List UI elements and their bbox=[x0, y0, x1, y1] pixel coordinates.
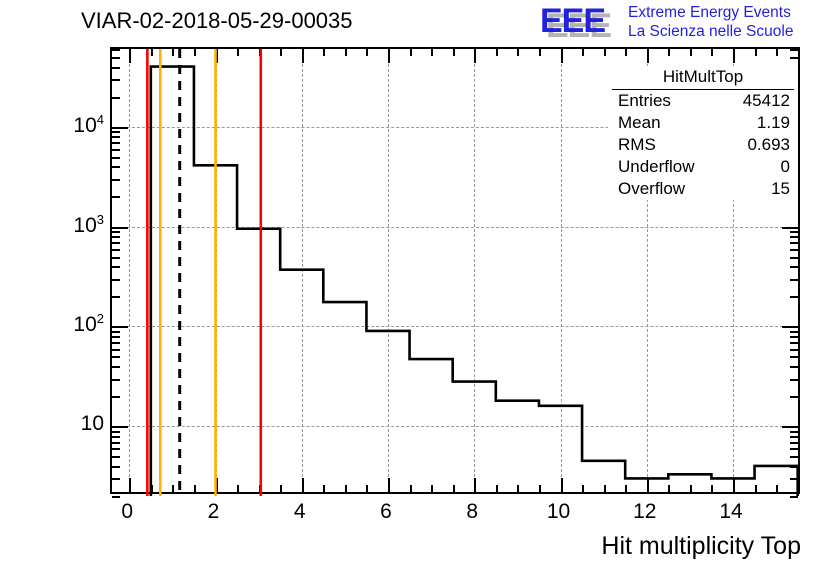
y-axis-labels: 10102103104 bbox=[0, 0, 104, 572]
stats-row-value: 0 bbox=[781, 157, 790, 177]
y-axis-tick-label: 104 bbox=[73, 112, 104, 138]
stats-row: RMS0.693 bbox=[608, 134, 798, 156]
y-axis-tick-label: 103 bbox=[73, 212, 104, 238]
stats-row-key: Underflow bbox=[618, 157, 695, 177]
x-axis-tick-label: 12 bbox=[633, 500, 656, 524]
y-axis-tick bbox=[112, 496, 120, 498]
stats-box-title: HitMultTop bbox=[612, 66, 794, 90]
stats-row-key: RMS bbox=[618, 135, 656, 155]
y-axis-tick-label: 10 bbox=[81, 412, 104, 436]
y-axis-tick-label: 102 bbox=[73, 311, 104, 337]
stats-row-key: Overflow bbox=[618, 179, 685, 199]
x-axis-title: Hit multiplicity Top bbox=[601, 532, 801, 561]
eee-logo-line1: Extreme Energy Events bbox=[628, 3, 793, 22]
stats-row-key: Mean bbox=[618, 113, 661, 133]
y-axis-tick bbox=[790, 496, 798, 498]
eee-logo-line2: La Scienza nelle Scuole bbox=[628, 22, 793, 41]
x-axis-tick-label: 14 bbox=[719, 500, 742, 524]
stats-row-value: 45412 bbox=[743, 91, 790, 111]
eee-logo-text: Extreme Energy Events La Scienza nelle S… bbox=[628, 3, 793, 41]
stats-box-rows: Entries45412Mean1.19RMS0.693Underflow0Ov… bbox=[608, 90, 798, 200]
eee-logo: EEE EEE Extreme Energy Events La Scienza… bbox=[535, 2, 835, 44]
x-axis-tick-label: 2 bbox=[208, 500, 220, 524]
stats-row-value: 15 bbox=[771, 179, 790, 199]
stats-row: Underflow0 bbox=[608, 156, 798, 178]
stats-row-key: Entries bbox=[618, 91, 671, 111]
x-axis-tick-label: 8 bbox=[466, 500, 478, 524]
stats-row-value: 1.19 bbox=[757, 113, 790, 133]
eee-logo-mark: EEE bbox=[540, 3, 605, 39]
x-axis-tick-label: 4 bbox=[294, 500, 306, 524]
stats-row: Mean1.19 bbox=[608, 112, 798, 134]
x-axis-tick-label: 0 bbox=[121, 500, 133, 524]
stats-box: HitMultTop Entries45412Mean1.19RMS0.693U… bbox=[608, 66, 798, 200]
stats-row: Overflow15 bbox=[608, 178, 798, 200]
stats-row: Entries45412 bbox=[608, 90, 798, 112]
chart-canvas: VIAR-02-2018-05-29-00035 EEE EEE Extreme… bbox=[0, 0, 836, 572]
x-axis-tick-label: 6 bbox=[380, 500, 392, 524]
x-axis-tick-label: 10 bbox=[547, 500, 570, 524]
page-title: VIAR-02-2018-05-29-00035 bbox=[81, 8, 353, 34]
stats-row-value: 0.693 bbox=[747, 135, 790, 155]
